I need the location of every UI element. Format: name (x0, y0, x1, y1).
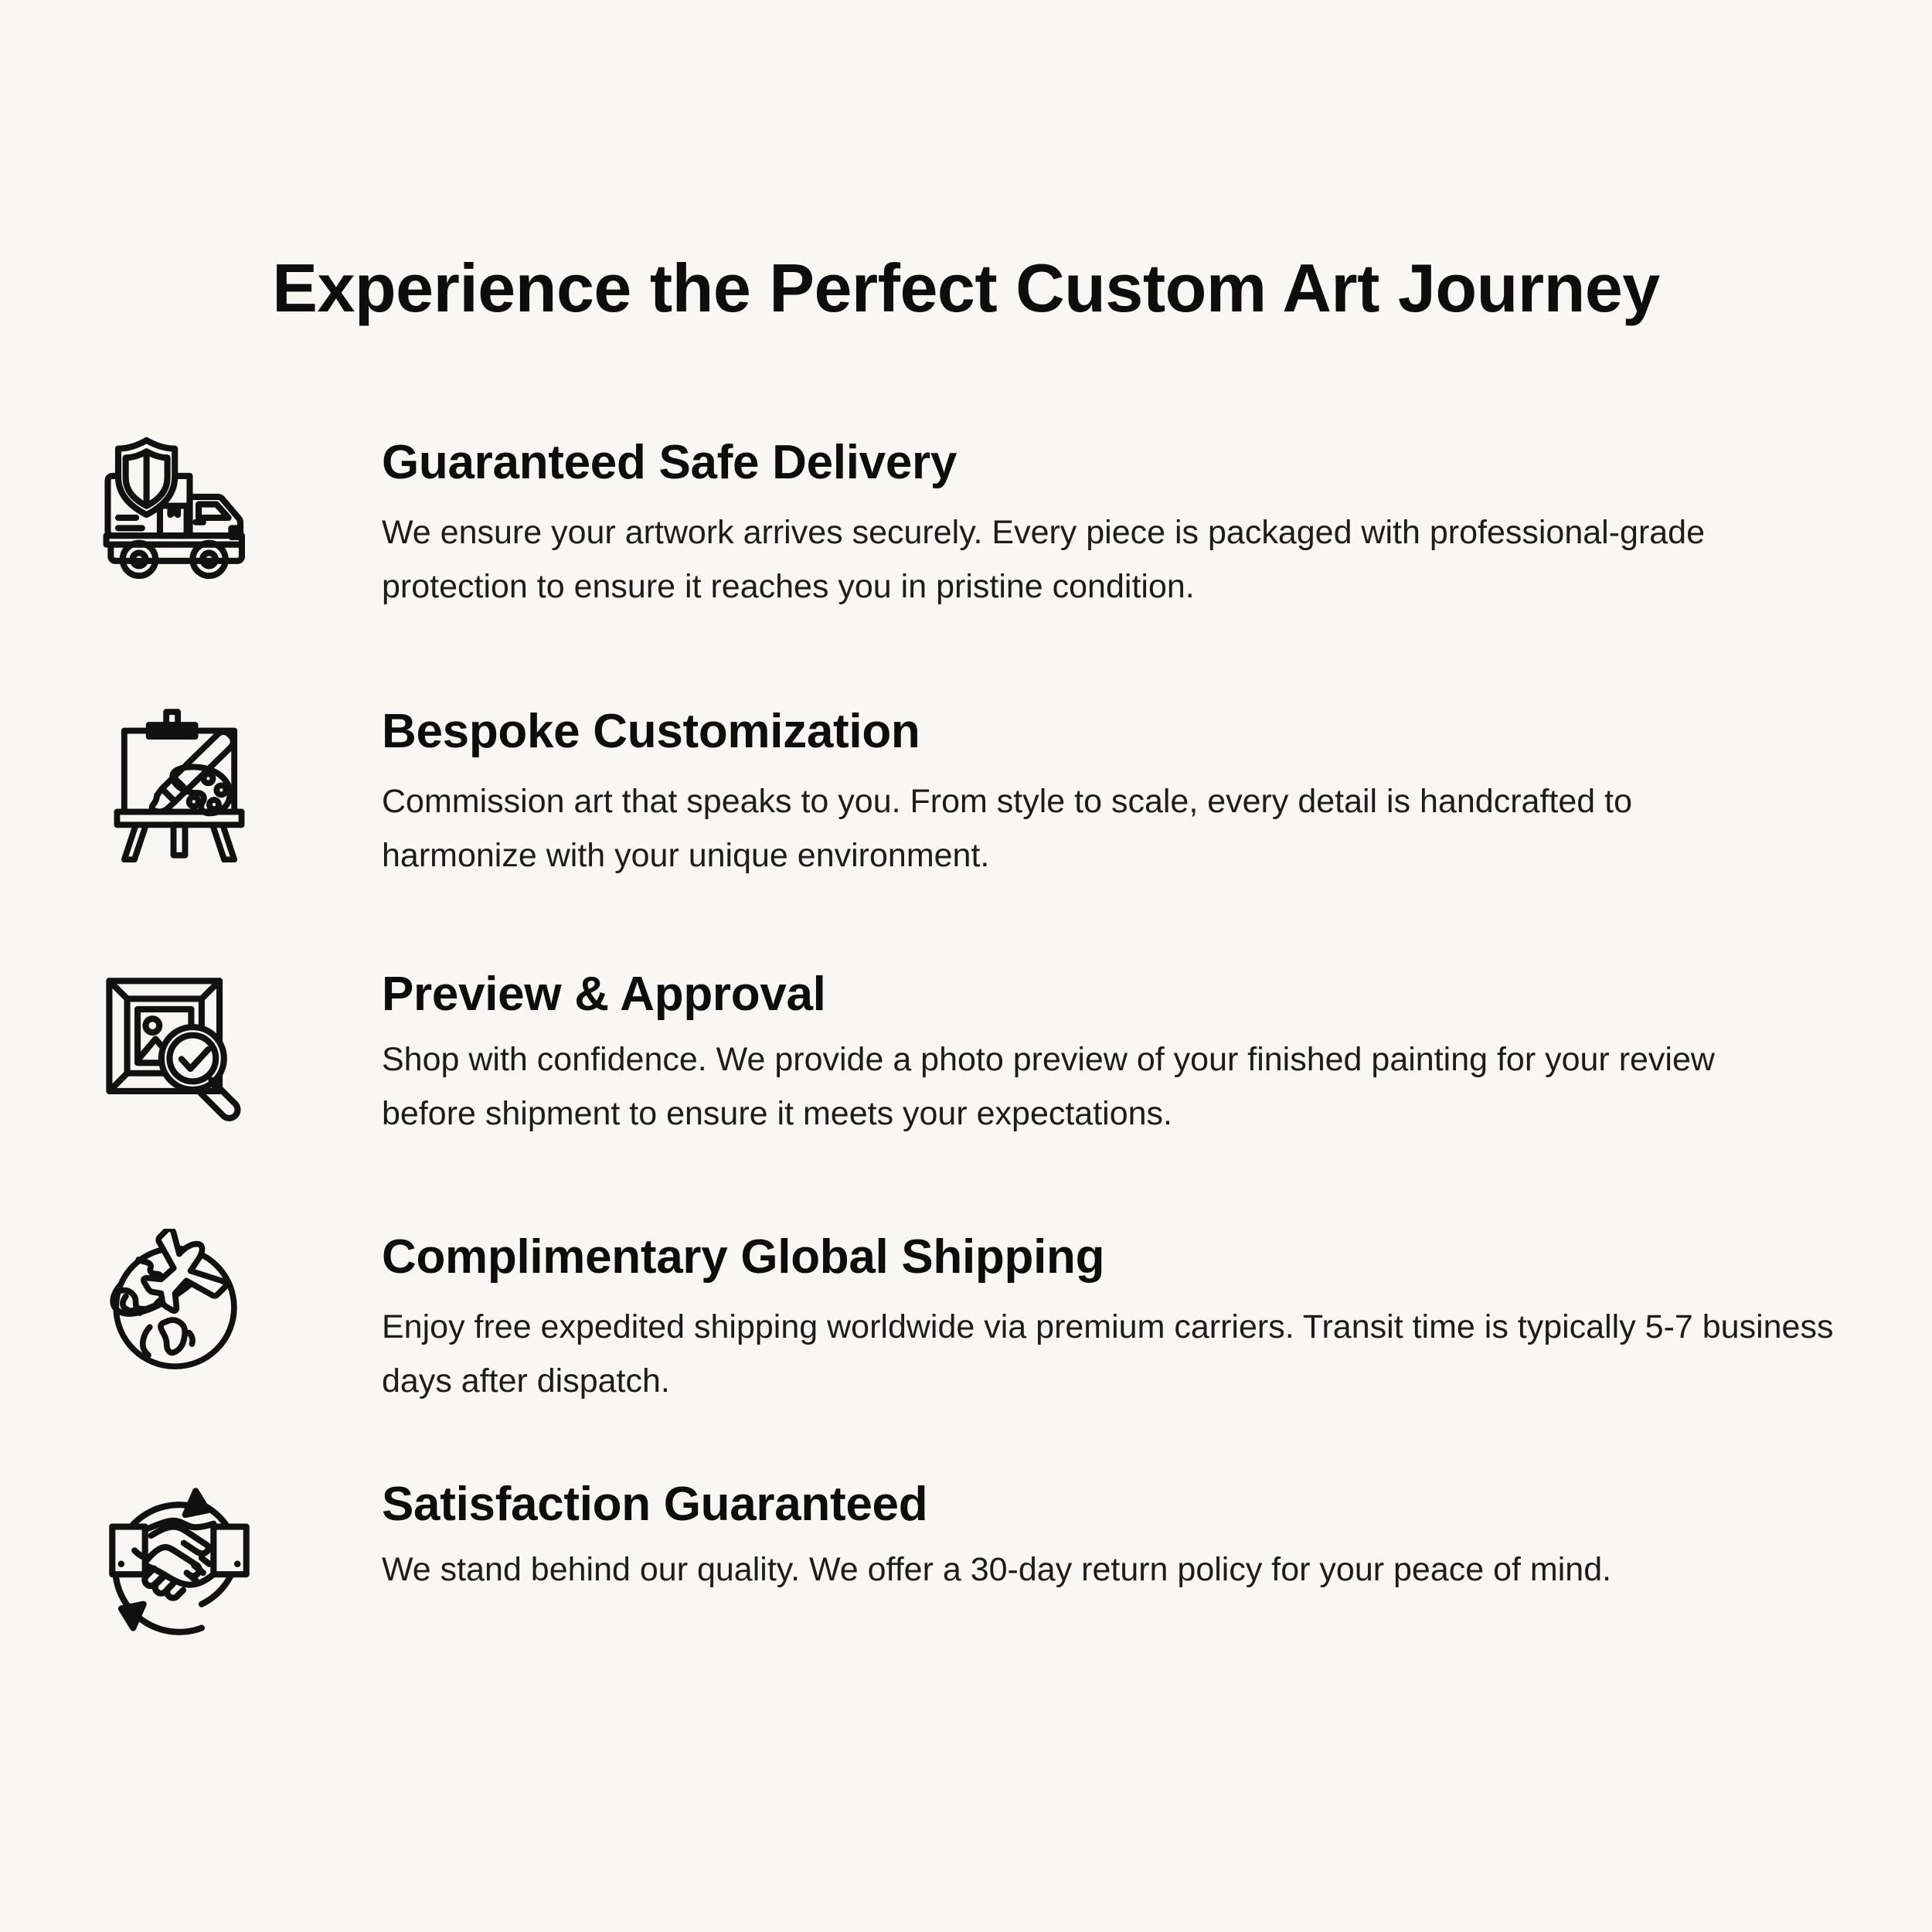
feature-text-cell: Complimentary Global Shipping Enjoy free… (267, 1224, 1932, 1409)
framed-picture-magnifier-check-icon (97, 966, 261, 1130)
feature-list: Guaranteed Safe Delivery We ensure your … (0, 430, 1932, 1719)
feature-description: We ensure your artwork arrives securely.… (382, 506, 1781, 614)
feature-item-global-shipping: Complimentary Global Shipping Enjoy free… (0, 1224, 1932, 1471)
feature-title: Complimentary Global Shipping (382, 1230, 1932, 1284)
feature-description: We stand behind our quality. We offer a … (382, 1543, 1896, 1597)
feature-title: Bespoke Customization (382, 705, 1932, 758)
feature-title: Satisfaction Guaranteed (382, 1478, 1932, 1531)
page-title: Experience the Perfect Custom Art Journe… (0, 253, 1932, 324)
feature-icon-cell (91, 1224, 267, 1383)
feature-item-satisfaction-guaranteed: Satisfaction Guaranteed We stand behind … (0, 1471, 1932, 1719)
feature-item-guaranteed-safe-delivery: Guaranteed Safe Delivery We ensure your … (0, 430, 1932, 699)
handshake-return-arrows-icon (97, 1476, 261, 1640)
feature-icon-cell (91, 1471, 267, 1640)
feature-text-cell: Satisfaction Guaranteed We stand behind … (267, 1471, 1932, 1597)
delivery-truck-shield-icon (97, 434, 261, 598)
feature-icon-cell (91, 961, 267, 1130)
feature-description: Enjoy free expedited shipping worldwide … (382, 1301, 1835, 1408)
globe-airplane-icon (102, 1229, 257, 1383)
feature-text-cell: Preview & Approval Shop with confidence.… (267, 961, 1932, 1141)
feature-item-bespoke-customization: Bespoke Customization Commission art tha… (0, 699, 1932, 961)
feature-icon-cell (91, 699, 267, 862)
feature-text-cell: Guaranteed Safe Delivery We ensure your … (267, 430, 1932, 614)
feature-description: Commission art that speaks to you. From … (382, 775, 1781, 883)
feature-icon-cell (91, 430, 267, 598)
feature-text-cell: Bespoke Customization Commission art tha… (267, 699, 1932, 883)
feature-title: Preview & Approval (382, 968, 1932, 1021)
feature-item-preview-approval: Preview & Approval Shop with confidence.… (0, 961, 1932, 1224)
feature-description: Shop with confidence. We provide a photo… (382, 1033, 1804, 1141)
easel-palette-brush-icon (100, 703, 259, 862)
feature-title: Guaranteed Safe Delivery (382, 436, 1932, 489)
features-page: Experience the Perfect Custom Art Journe… (0, 0, 1932, 1932)
